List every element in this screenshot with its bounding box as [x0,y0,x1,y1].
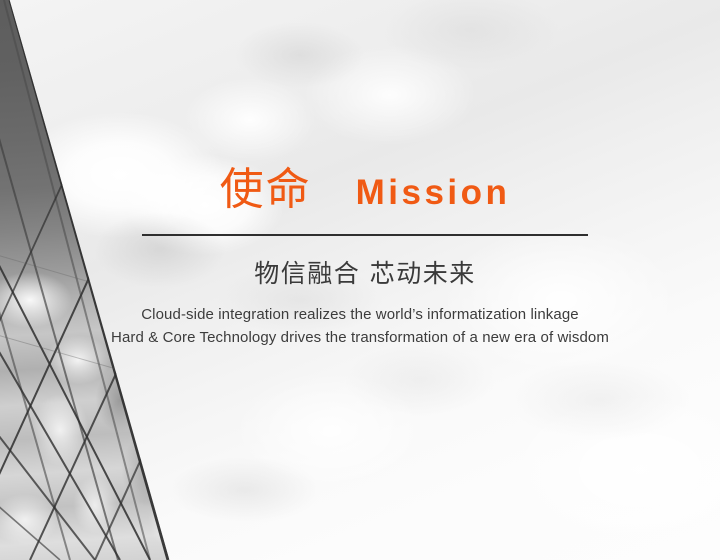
heading-english: Mission [356,175,511,210]
mission-paragraph-line-1: Cloud-side integration realizes the worl… [60,303,660,326]
subtitle-chinese: 物信融合 芯动未来 [142,258,588,289]
slide-canvas: 使命 Mission 物信融合 芯动未来 Cloud-side integrat… [0,0,720,560]
mission-paragraph-line-2: Hard & Core Technology drives the transf… [60,326,660,349]
heading-chinese: 使命 [220,168,312,212]
mission-paragraph: Cloud-side integration realizes the worl… [60,303,660,349]
text-overlay: 使命 Mission 物信融合 芯动未来 Cloud-side integrat… [0,0,720,560]
heading-divider [142,234,588,236]
slide-heading: 使命 Mission [142,168,588,212]
